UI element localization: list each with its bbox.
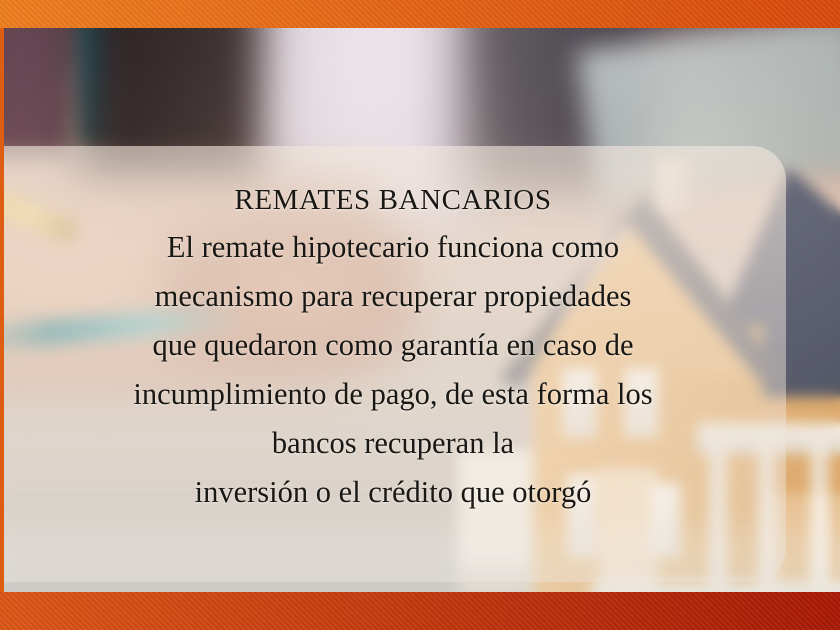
bottom-orange-band	[0, 592, 840, 630]
body-line: El remate hipotecario funciona como	[133, 223, 652, 272]
page-title: REMATES BANCARIOS	[234, 184, 551, 216]
body-line: que quedaron como garantía en caso de	[133, 321, 652, 370]
body-line: mecanismo para recuperar propiedades	[133, 272, 652, 321]
body-paragraph: El remate hipotecario funciona como meca…	[133, 223, 652, 517]
left-orange-strip	[0, 28, 4, 592]
body-line: incumplimiento de pago, de esta forma lo…	[133, 370, 652, 419]
top-orange-band	[0, 0, 840, 28]
body-line: inversión o el crédito que otorgó	[133, 468, 652, 517]
slide-copy: REMATES BANCARIOS El remate hipotecario …	[0, 146, 786, 582]
promo-slide: REMATES BANCARIOS El remate hipotecario …	[0, 0, 840, 630]
body-line: bancos recuperan la	[133, 419, 652, 468]
